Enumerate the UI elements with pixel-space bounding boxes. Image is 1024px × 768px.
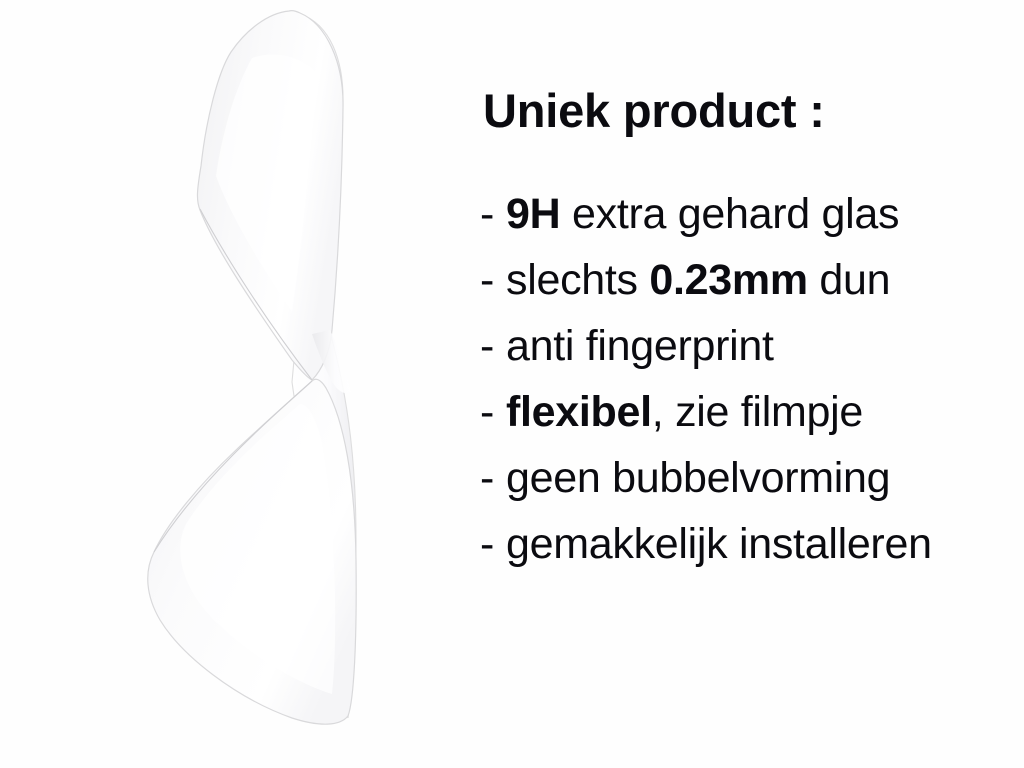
- feature-rest: extra gehard glas: [560, 190, 899, 238]
- list-item: -anti fingerprint: [480, 313, 1024, 379]
- list-item: -geen bubbelvorming: [480, 445, 1024, 511]
- bullet-marker: -: [480, 379, 506, 445]
- feature-lead: 9H: [506, 190, 560, 238]
- bullet-marker: -: [480, 181, 506, 247]
- bullet-marker: -: [480, 445, 506, 511]
- list-item: -flexibel, zie filmpje: [480, 379, 1024, 445]
- product-illustration: [0, 0, 460, 768]
- list-item: -9H extra gehard glas: [480, 181, 1024, 247]
- list-item: -gemakkelijk installeren: [480, 511, 1024, 577]
- bullet-marker: -: [480, 313, 506, 379]
- page-title: Uniek product :: [483, 83, 825, 138]
- feature-tail: dun: [808, 256, 891, 304]
- bullet-marker: -: [480, 247, 506, 313]
- feature-rest: 0.23mm: [649, 256, 807, 304]
- flexible-glass-sheet-svg: [0, 0, 460, 768]
- feature-lead: flexibel: [506, 388, 652, 436]
- feature-lead: anti fingerprint: [506, 322, 774, 370]
- feature-list: -9H extra gehard glas -slechts 0.23mm du…: [480, 181, 1024, 577]
- list-item: -slechts 0.23mm dun: [480, 247, 1024, 313]
- feature-panel: Uniek product : -9H extra gehard glas -s…: [466, 0, 1024, 768]
- feature-lead: gemakkelijk installeren: [506, 520, 932, 568]
- bullet-marker: -: [480, 511, 506, 577]
- feature-lead: slechts: [506, 256, 649, 304]
- feature-rest: , zie filmpje: [652, 388, 863, 436]
- feature-lead: geen bubbelvorming: [506, 454, 890, 502]
- advertisement-canvas: Uniek product : -9H extra gehard glas -s…: [0, 0, 1024, 768]
